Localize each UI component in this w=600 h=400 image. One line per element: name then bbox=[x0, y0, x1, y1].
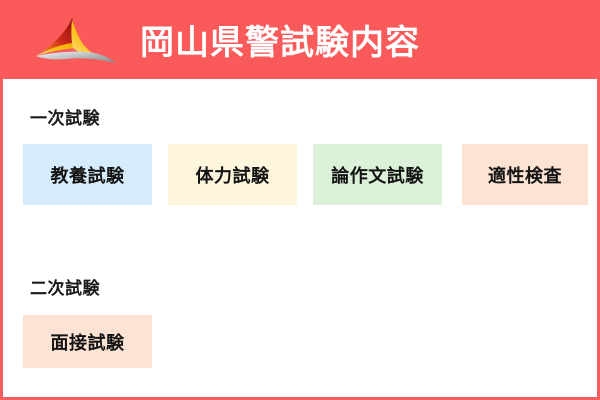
page-title: 岡山県警試験内容 bbox=[140, 0, 420, 79]
exam-tag-tairyoku-shiken[interactable]: 体力試験 bbox=[168, 144, 297, 205]
section-heading-first-exam: 一次試験 bbox=[30, 104, 100, 129]
exam-tag-tekisei-kensa[interactable]: 適性検査 bbox=[462, 144, 588, 205]
exam-tag-label: 教養試験 bbox=[51, 162, 125, 188]
infographic-page: 岡山県警試験内容 一次試験 教養試験 体力試験 論作文試験 適性検査 二次試験 … bbox=[0, 0, 600, 400]
swoosh-wing-logo-icon bbox=[26, 14, 122, 66]
section-heading-second-exam: 二次試験 bbox=[30, 274, 100, 299]
exam-tag-label: 体力試験 bbox=[196, 162, 270, 188]
exam-tag-label: 面接試験 bbox=[51, 329, 125, 355]
exam-tag-label: 適性検査 bbox=[488, 162, 562, 188]
exam-tag-mensetsu-shiken[interactable]: 面接試験 bbox=[23, 315, 152, 368]
exam-tag-kyoyo-shiken[interactable]: 教養試験 bbox=[23, 144, 152, 205]
exam-tag-ronsakubun-shiken[interactable]: 論作文試験 bbox=[313, 144, 442, 205]
exam-tag-label: 論作文試験 bbox=[331, 162, 424, 188]
page-header: 岡山県警試験内容 bbox=[0, 0, 600, 79]
